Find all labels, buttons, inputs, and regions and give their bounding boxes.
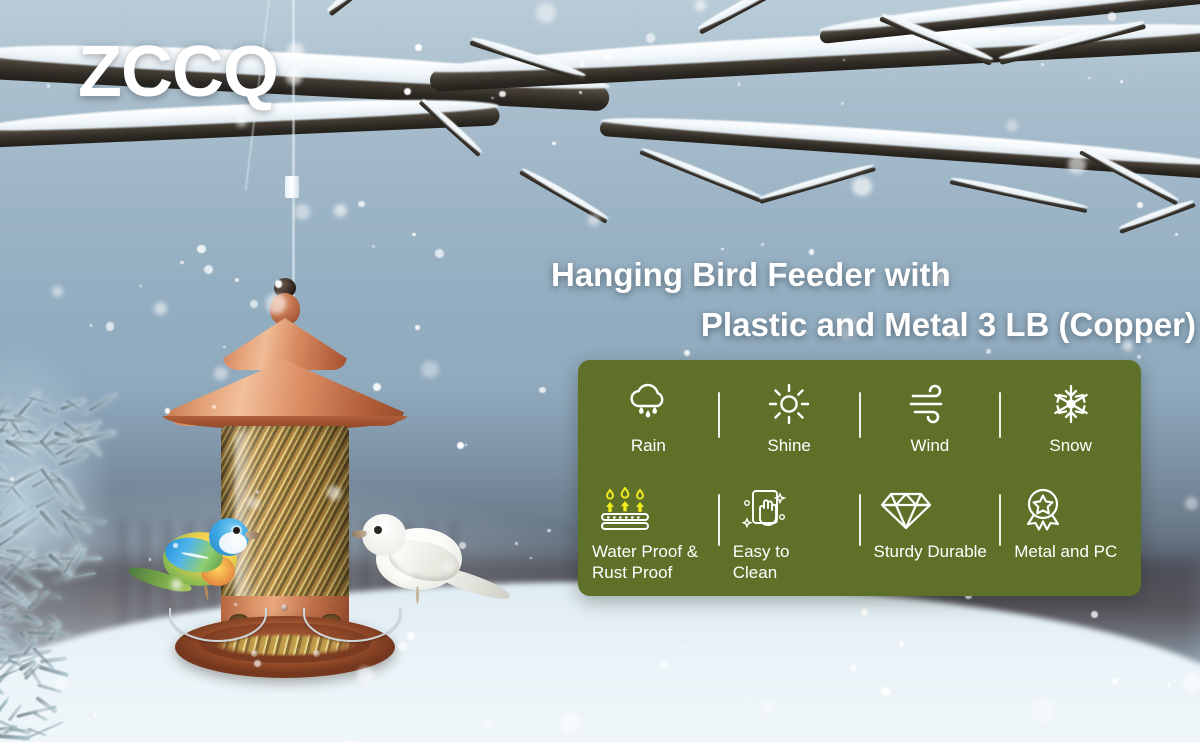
snow-particle [398, 642, 407, 651]
snow-particle [646, 33, 656, 43]
feature-panel: Rain [578, 360, 1141, 596]
feature-wind[interactable]: Wind [860, 374, 1001, 480]
snow-particle [579, 91, 582, 94]
snow-particle [660, 661, 668, 669]
snow-particle [457, 442, 464, 449]
snow-particle [373, 383, 381, 391]
snow-particle [10, 477, 14, 481]
snow-particle [295, 204, 311, 220]
snow-particle [491, 97, 494, 100]
snow-particle [881, 687, 890, 696]
headline-line-1: Hanging Bird Feeder with [551, 256, 951, 293]
snow-particle [236, 116, 247, 127]
feature-label: Metal and PC [1014, 542, 1117, 563]
snow-particle [536, 3, 556, 23]
bird-painted-bunting [135, 500, 255, 620]
snow-particle [684, 644, 686, 646]
feature-divider [999, 494, 1001, 546]
snow-particle [850, 664, 857, 671]
bird-cheek [219, 532, 247, 554]
snow-particle [1183, 674, 1200, 692]
snow-particle [275, 280, 282, 287]
bird-head [362, 514, 406, 556]
brand-logo: ZCCQ [78, 36, 278, 108]
feature-label: Rain [631, 436, 666, 457]
product-banner: ZCCQ Hanging Bird Feeder with Plastic an… [0, 0, 1200, 742]
snow-particle [605, 54, 611, 60]
snow-particle [588, 214, 600, 226]
feature-snow[interactable]: Snow [1000, 374, 1141, 480]
feeder-screw [313, 650, 320, 657]
snow-particle [878, 136, 880, 138]
snow-particle [1137, 202, 1143, 208]
feature-label: Sturdy Durable [874, 542, 987, 563]
snow-particle [1126, 712, 1128, 714]
snow-particle [55, 677, 68, 690]
bird-leg [416, 586, 419, 604]
feature-sturdy-durable[interactable]: Sturdy Durable [860, 480, 1001, 590]
snow-particle [421, 361, 438, 378]
snow-particle [47, 84, 51, 88]
snow-particle [357, 667, 373, 683]
feature-label: Shine [767, 436, 810, 457]
feature-water-proof[interactable]: Water Proof & Rust Proof [578, 480, 719, 590]
snow-particle [1063, 705, 1066, 708]
feeder-screw [251, 650, 258, 657]
snow-particle [684, 350, 690, 356]
feature-divider [999, 392, 1001, 438]
feature-divider [859, 494, 861, 546]
snow-particle [1167, 683, 1171, 687]
water-repellent-layers-icon [592, 486, 719, 534]
snow-particle [1068, 156, 1086, 174]
snow-particle [713, 704, 715, 706]
snow-particle [1108, 12, 1117, 21]
snow-particle [539, 387, 545, 393]
feature-label: Wind [911, 436, 950, 457]
hand-wipe-icon [733, 486, 860, 534]
snow-particle [358, 201, 364, 207]
snowflake-icon [1049, 380, 1093, 428]
snow-particle [173, 543, 178, 548]
snow-particle [235, 278, 239, 282]
snow-particle [1006, 120, 1017, 131]
snow-particle [841, 102, 844, 105]
rain-cloud-icon [625, 380, 671, 428]
snow-particle [459, 542, 466, 549]
snow-particle [415, 325, 420, 330]
snow-particle [552, 142, 555, 145]
snow-particle [165, 408, 170, 413]
snow-particle [465, 444, 467, 446]
snow-particle [861, 608, 868, 615]
award-medal-icon [1014, 486, 1141, 534]
feeder-screw [281, 604, 288, 611]
feature-metal-and-pc[interactable]: Metal and PC [1000, 480, 1141, 590]
snow-particle [561, 713, 580, 732]
feature-rain[interactable]: Rain [578, 374, 719, 480]
snow-particle [327, 486, 340, 499]
snow-particle [745, 696, 747, 698]
cord-clip [285, 176, 299, 198]
feature-divider [718, 494, 720, 546]
bird-leg [204, 584, 209, 600]
snow-particle [256, 490, 260, 494]
snow-particle [442, 561, 454, 573]
snow-particle [286, 69, 302, 85]
feature-label: Snow [1049, 436, 1092, 457]
snow-particle [254, 660, 261, 667]
snow-particle [197, 245, 206, 254]
snow-particle [395, 564, 414, 583]
snow-particle [761, 243, 764, 246]
snow-particle [899, 641, 904, 646]
snow-particle [334, 204, 347, 217]
feature-label: Easy to Clean [733, 542, 790, 583]
diamond-icon [874, 486, 1001, 534]
snow-particle [580, 62, 585, 67]
product-headline: Hanging Bird Feeder with Plastic and Met… [551, 250, 1196, 350]
feature-row-materials: Water Proof & Rust Proof Easy to Clean [578, 480, 1141, 590]
bird-white-finch [362, 502, 512, 632]
feature-shine[interactable]: Shine [719, 374, 860, 480]
snow-particle [234, 603, 237, 606]
sun-icon [767, 380, 811, 428]
snow-particle [247, 496, 259, 508]
snow-particle [1031, 699, 1055, 723]
snow-particle [589, 51, 593, 55]
wind-icon [907, 380, 953, 428]
snow-particle [90, 324, 92, 326]
snow-particle [287, 43, 304, 60]
snow-particle [212, 405, 216, 409]
feature-divider [718, 392, 720, 438]
snow-particle [499, 91, 505, 97]
feature-row-weather: Rain [578, 374, 1141, 480]
snow-particle [852, 177, 871, 196]
snow-particle [415, 44, 422, 51]
feature-divider [859, 392, 861, 438]
snow-particle [1112, 678, 1118, 684]
bird-eye [374, 526, 382, 534]
snow-particle [843, 59, 845, 61]
bird-eye [233, 527, 240, 534]
snow-particle [139, 285, 141, 287]
feature-easy-clean[interactable]: Easy to Clean [719, 480, 860, 590]
snow-particle [1175, 233, 1177, 235]
snow-particle [266, 293, 286, 313]
headline-line-2: Plastic and Metal 3 LB (Copper) [551, 300, 1196, 350]
feature-label: Water Proof & Rust Proof [592, 542, 698, 583]
